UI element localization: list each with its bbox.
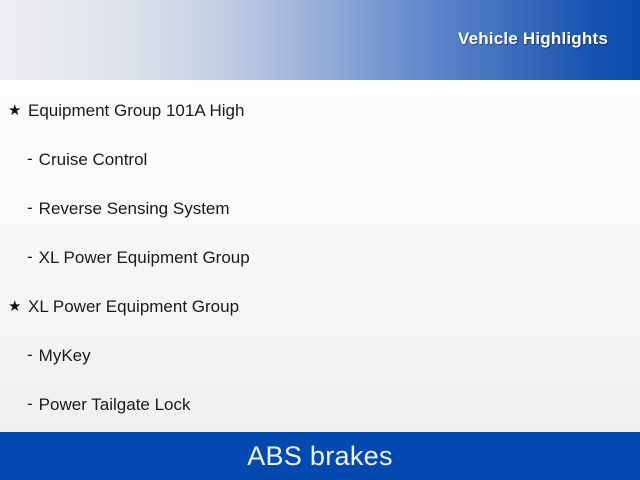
highlight-label: Reverse Sensing System [39,200,230,217]
footer-banner: ABS brakes [0,432,640,480]
dash-icon: - [27,149,33,169]
highlight-label: MyKey [39,347,91,364]
page-title: Vehicle Highlights [458,29,608,49]
star-icon: ★ [8,299,28,314]
highlight-label: XL Power Equipment Group [39,249,250,266]
highlight-label: Equipment Group 101A High [28,102,244,119]
highlight-subitem: -Cruise Control [27,146,147,172]
highlight-label: Cruise Control [39,151,148,168]
slide-canvas: Vehicle Highlights ★Equipment Group 101A… [0,0,640,480]
dash-icon: - [27,198,33,218]
highlight-label: XL Power Equipment Group [28,298,239,315]
dash-icon: - [27,345,33,365]
highlight-subitem: -XL Power Equipment Group [27,244,250,270]
highlight-subitem: -Reverse Sensing System [27,195,230,221]
star-icon: ★ [8,103,28,118]
highlight-item: ★Equipment Group 101A High [8,97,244,123]
highlights-list: ★Equipment Group 101A High-Cruise Contro… [0,80,640,432]
dash-icon: - [27,394,33,414]
header-banner: Vehicle Highlights [0,0,640,80]
highlight-subitem: -MyKey [27,342,91,368]
highlight-item: ★XL Power Equipment Group [8,293,239,319]
dash-icon: - [27,247,33,267]
highlight-subitem: -Power Tailgate Lock [27,391,191,417]
highlight-label: Power Tailgate Lock [39,396,191,413]
footer-title: ABS brakes [247,441,393,472]
